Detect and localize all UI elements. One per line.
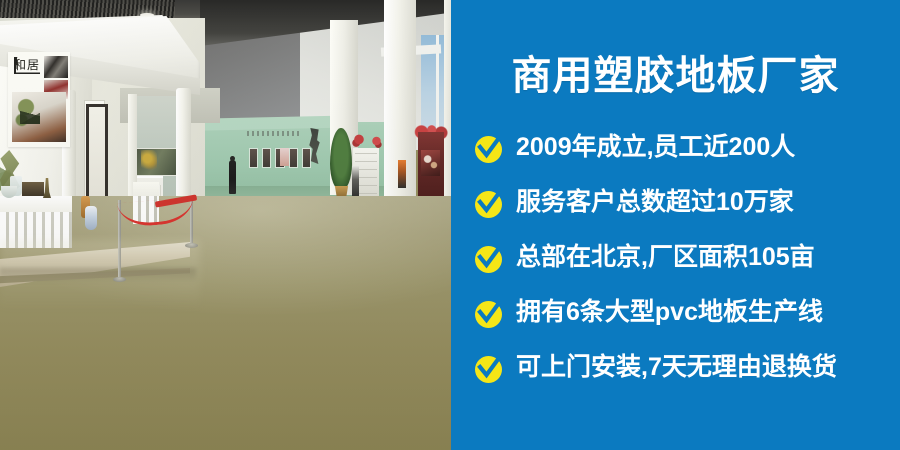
person-visitor [229, 160, 236, 194]
list-item: 2009年成立,员工近200人 [475, 120, 886, 175]
poster-calligraphy: 和居 [14, 57, 40, 74]
pavilion-poster: 和居 [8, 52, 70, 147]
poster-photo-bottom [12, 92, 66, 142]
person-attendant [352, 166, 359, 196]
maroon-display-stand [418, 132, 444, 198]
interior-flower-arrangement [141, 150, 157, 174]
list-item: 可上门安装,7天无理由退换货 [475, 340, 886, 395]
page-title: 商用塑胶地板厂家 [465, 0, 886, 96]
wall-frame [249, 148, 258, 168]
dark-box-prop [22, 182, 44, 196]
feature-text: 可上门安装,7天无理由退换货 [516, 355, 837, 380]
photo-scene: 和居 [0, 0, 451, 450]
floor-reflection [0, 240, 200, 310]
feature-text: 总部在北京,厂区面积105亩 [516, 245, 815, 270]
showroom-photo: 和居 [0, 0, 451, 450]
wall-small-poster [280, 148, 289, 166]
flower-display-right [370, 135, 383, 150]
list-item: 服务客户总数超过10万家 [475, 175, 886, 230]
feature-text: 拥有6条大型pvc地板生产线 [516, 300, 823, 325]
check-circle-icon [475, 134, 503, 162]
topiary-tree [330, 128, 352, 190]
check-circle-icon [475, 189, 503, 217]
check-circle-icon [475, 354, 503, 382]
check-circle-icon [475, 299, 503, 327]
poster-photo-top [44, 56, 68, 78]
info-panel: 商用塑胶地板厂家 2009年成立,员工近200人 服务 [451, 0, 900, 450]
feature-text: 2009年成立,员工近200人 [516, 135, 795, 160]
product-banner: 和居 [0, 0, 900, 450]
person-vendor [398, 160, 406, 188]
feature-list: 2009年成立,员工近200人 服务客户总数超过10万家 [465, 96, 886, 395]
feature-text: 服务客户总数超过10万家 [516, 190, 794, 215]
wall-frame [302, 148, 311, 168]
wall-frame [262, 148, 271, 168]
wall-banner-text [247, 131, 301, 136]
wall-frame [289, 148, 298, 168]
check-circle-icon [475, 244, 503, 272]
flower-display-left [352, 133, 366, 149]
list-item: 拥有6条大型pvc地板生产线 [475, 285, 886, 340]
list-item: 总部在北京,厂区面积105亩 [475, 230, 886, 285]
pavilion-dark-frame [86, 104, 108, 206]
blue-vase-prop [85, 206, 97, 230]
hall-column-far-right [444, 0, 451, 205]
